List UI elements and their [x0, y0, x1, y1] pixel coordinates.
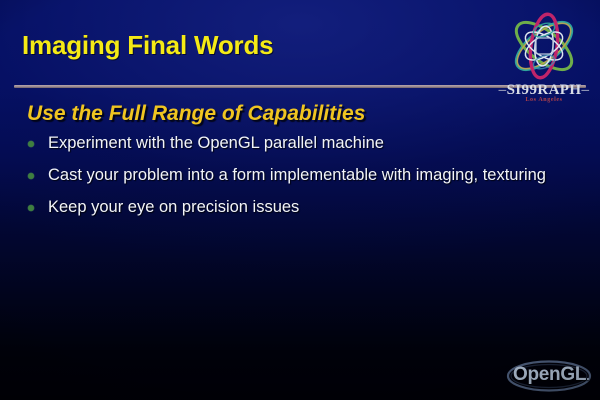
- opengl-dot-label: .: [586, 368, 589, 383]
- list-item: Cast your problem into a form implementa…: [28, 164, 558, 187]
- list-item-label: Keep your eye on precision issues: [48, 196, 299, 219]
- opengl-logo: OpenGL.: [505, 358, 597, 394]
- bullet-list: Experiment with the OpenGL parallel mach…: [28, 132, 558, 228]
- presentation-slide: Imaging Final Words Use the Full Range o…: [0, 0, 600, 400]
- page-title: Imaging Final Words: [22, 30, 273, 61]
- slide-subtitle: Use the Full Range of Capabilities: [27, 102, 365, 126]
- opengl-text-label: OpenGL: [513, 364, 586, 385]
- wordmark-dash-right: –: [581, 82, 589, 98]
- siggraph-city-label: Los Angeles: [494, 97, 594, 103]
- bullet-dot-icon: [28, 173, 34, 179]
- bullet-dot-icon: [28, 205, 34, 211]
- list-item-label: Cast your problem into a form implementa…: [48, 164, 546, 187]
- siggraph-logo: –SI99RAPH– Los Angeles: [494, 10, 594, 105]
- wordmark-dash-left: –: [499, 82, 507, 98]
- siggraph-rings-icon: [500, 10, 588, 82]
- list-item: Keep your eye on precision issues: [28, 196, 558, 219]
- wordmark-text: SI99RAPH: [507, 82, 582, 98]
- bullet-dot-icon: [28, 141, 34, 147]
- list-item: Experiment with the OpenGL parallel mach…: [28, 132, 558, 155]
- opengl-wordmark: OpenGL.: [513, 364, 589, 386]
- list-item-label: Experiment with the OpenGL parallel mach…: [48, 132, 384, 155]
